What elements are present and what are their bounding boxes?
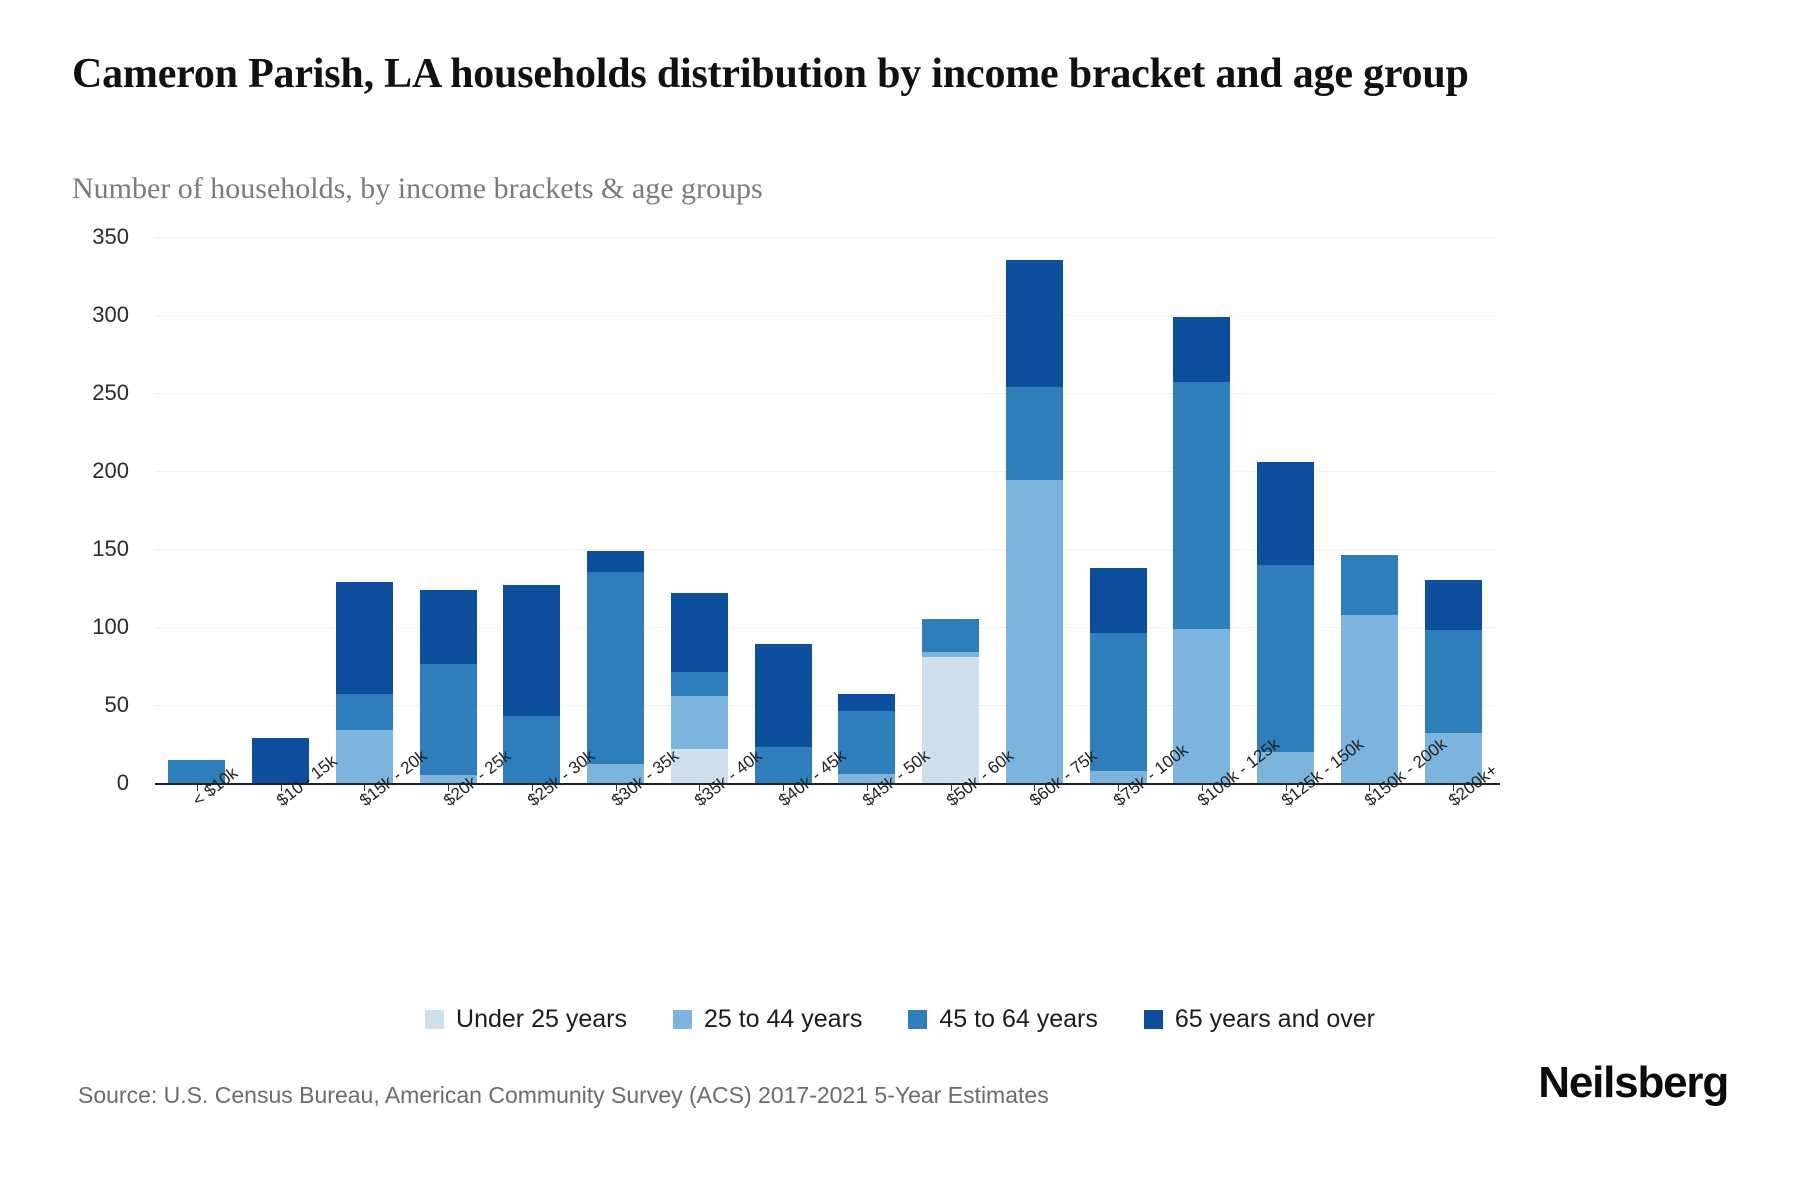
bar-segment[interactable] [1173,382,1230,628]
legend-item[interactable]: Under 25 years [425,1005,627,1034]
bar-stack[interactable] [503,237,560,783]
bar-segment[interactable] [503,585,560,716]
bar-segment[interactable] [1425,580,1482,630]
plot-area [155,237,1495,783]
bar-stack[interactable] [1341,237,1398,783]
legend-item-label: Under 25 years [456,1005,627,1034]
bar-segment[interactable] [1425,630,1482,733]
bar-segment[interactable] [1006,387,1063,481]
bar-segment[interactable] [420,590,477,665]
bar-stack[interactable] [252,237,309,783]
y-axis-tick-label: 50 [105,692,129,718]
page-title: Cameron Parish, LA households distributi… [72,48,1492,100]
bar-stack[interactable] [1090,237,1147,783]
bar-segment[interactable] [587,551,644,573]
y-axis-tick-label: 250 [92,380,129,406]
y-axis-tick-label: 100 [92,614,129,640]
legend-swatch-icon [673,1010,692,1029]
bar-segment[interactable] [1090,633,1147,770]
bar-segment[interactable] [671,696,728,749]
legend-item-label: 45 to 64 years [939,1005,1097,1034]
bar-segment[interactable] [1173,317,1230,383]
bar-stack[interactable] [1425,237,1482,783]
bar-segment[interactable] [587,572,644,764]
legend-item-label: 65 years and over [1175,1005,1375,1034]
bar-stack[interactable] [420,237,477,783]
legend-item[interactable]: 25 to 44 years [673,1005,862,1034]
bar-segment[interactable] [922,619,979,652]
legend-item[interactable]: 65 years and over [1144,1005,1375,1034]
bar-segment[interactable] [1006,260,1063,386]
legend-swatch-icon [425,1010,444,1029]
legend-swatch-icon [1144,1010,1163,1029]
bar-stack[interactable] [838,237,895,783]
bar-segment[interactable] [671,672,728,695]
bar-stack[interactable] [922,237,979,783]
source-note: Source: U.S. Census Bureau, American Com… [78,1082,1049,1109]
y-axis-tick-label: 200 [92,458,129,484]
bar-segment[interactable] [1341,555,1398,614]
bar-stack[interactable] [1173,237,1230,783]
legend-item[interactable]: 45 to 64 years [908,1005,1097,1034]
bar-stack[interactable] [1257,237,1314,783]
y-axis-tick-label: 0 [117,770,129,796]
y-axis-tick-label: 150 [92,536,129,562]
bar-segment[interactable] [1257,462,1314,565]
bar-segment[interactable] [671,593,728,673]
bar-stack[interactable] [1006,237,1063,783]
chart-legend: Under 25 years25 to 44 years45 to 64 yea… [0,1005,1800,1034]
y-axis: 050100150200250300350 [0,237,143,783]
bar-segment[interactable] [1090,568,1147,634]
bar-segment[interactable] [336,694,393,730]
bar-stack[interactable] [168,237,225,783]
bar-segment[interactable] [755,644,812,747]
bar-stack[interactable] [336,237,393,783]
legend-item-label: 25 to 44 years [704,1005,862,1034]
brand-logo: Neilsberg [1538,1058,1728,1108]
bar-stack[interactable] [755,237,812,783]
bar-segment[interactable] [922,652,979,657]
y-axis-tick-label: 300 [92,302,129,328]
chart-subtitle: Number of households, by income brackets… [72,172,1472,206]
bar-segment[interactable] [1006,480,1063,783]
legend-swatch-icon [908,1010,927,1029]
y-axis-tick-label: 350 [92,224,129,250]
bar-segment[interactable] [838,694,895,711]
bar-segment[interactable] [336,582,393,694]
bar-stack[interactable] [587,237,644,783]
bar-stack[interactable] [671,237,728,783]
bar-segment[interactable] [1257,565,1314,752]
bar-segment[interactable] [838,711,895,773]
chart-canvas: Cameron Parish, LA households distributi… [0,0,1800,1200]
